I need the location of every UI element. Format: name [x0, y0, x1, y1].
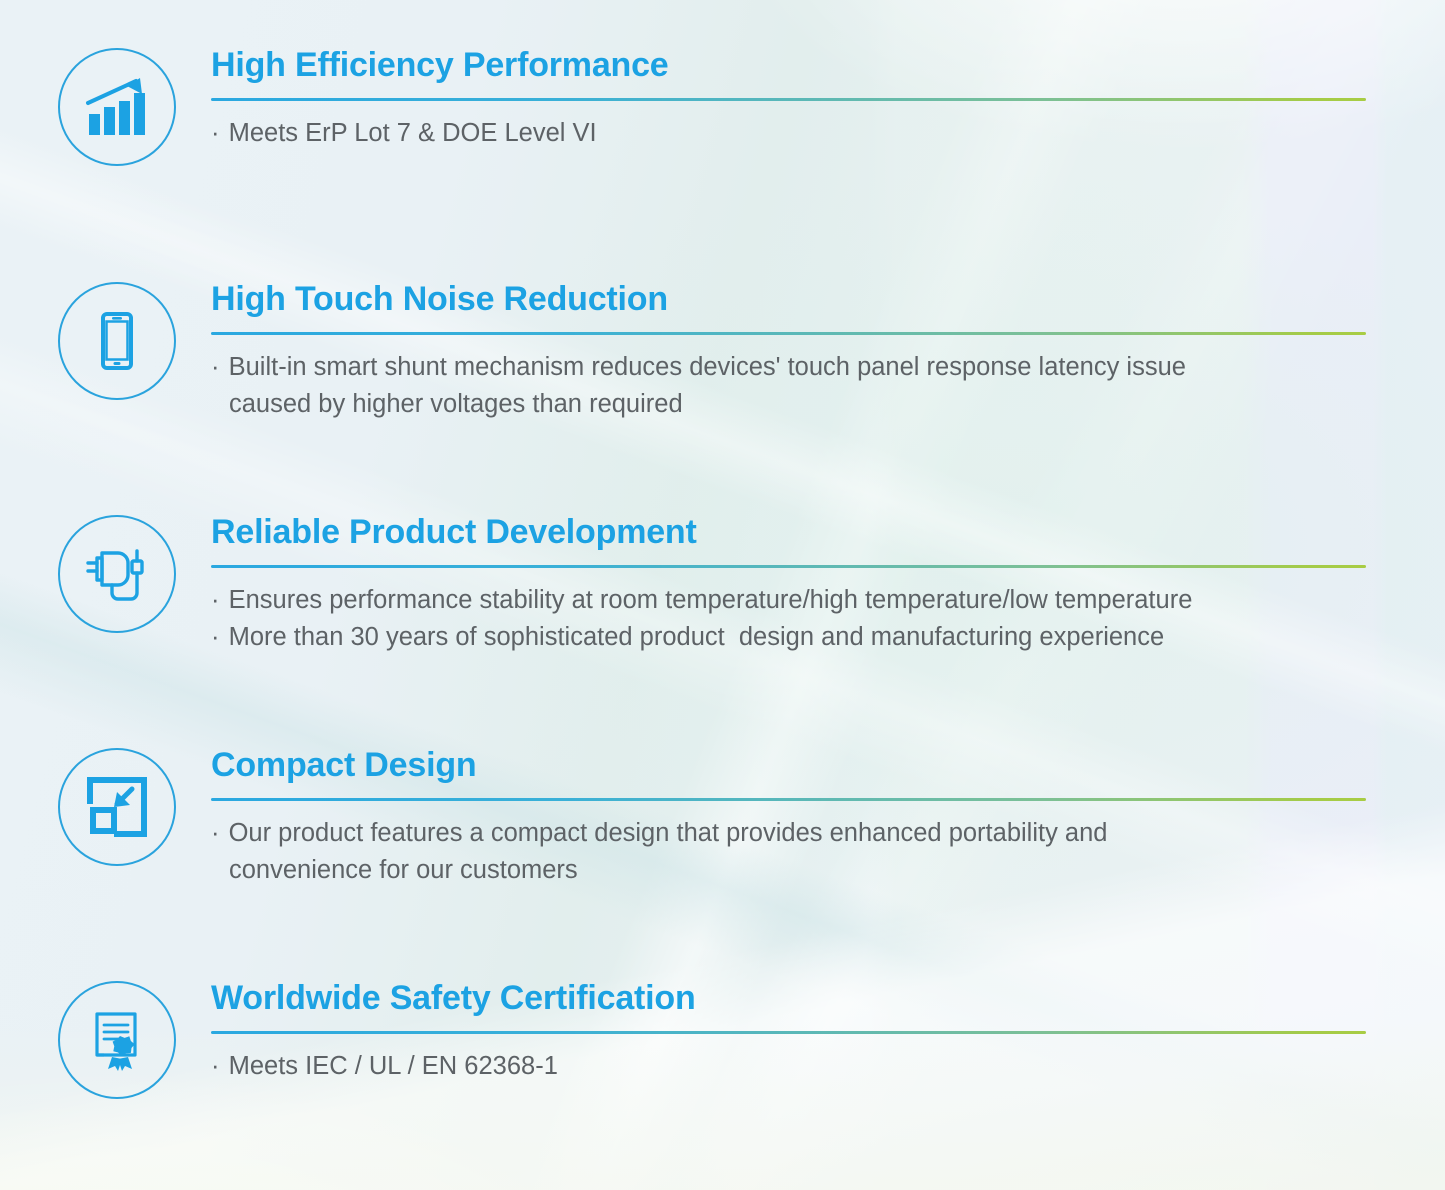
feature-lines: · Meets ErP Lot 7 & DOE Level VI	[211, 115, 1365, 152]
feature-body: High Efficiency Performance · Meets ErP …	[211, 48, 1445, 152]
feature-title: Worldwide Safety Certification	[211, 981, 1365, 1015]
bullet-text: caused by higher voltages than required	[229, 390, 683, 418]
feature-divider	[211, 332, 1366, 335]
bullet-marker: ·	[211, 586, 220, 614]
icon-circle	[58, 282, 176, 400]
feature-title: Compact Design	[211, 748, 1365, 782]
feature-bullet-line: · More than 30 years of sophisticated pr…	[211, 619, 1365, 656]
feature-body: Worldwide Safety Certification · Meets I…	[211, 981, 1445, 1085]
feature-icon-wrap	[55, 282, 179, 400]
feature-divider	[211, 565, 1366, 568]
feature-lines: · Meets IEC / UL / EN 62368-1	[211, 1048, 1365, 1085]
bullet-text: Our product features a compact design th…	[229, 819, 1108, 847]
bullet-marker: ·	[211, 1052, 220, 1080]
feature-title: Reliable Product Development	[211, 515, 1365, 549]
feature-bullet-line: · Our product features a compact design …	[211, 815, 1365, 852]
feature-icon-wrap	[55, 515, 179, 633]
feature-title: High Efficiency Performance	[211, 48, 1365, 82]
bullet-text: Built-in smart shunt mechanism reduces d…	[229, 353, 1186, 381]
feature-icon-wrap	[55, 48, 179, 166]
feature-title: High Touch Noise Reduction	[211, 282, 1365, 316]
bullet-text: Meets IEC / UL / EN 62368-1	[229, 1052, 558, 1080]
feature-body: Compact Design · Our product features a …	[211, 748, 1445, 888]
feature-row-compact-design: Compact Design · Our product features a …	[0, 748, 1445, 888]
bullet-text: convenience for our customers	[229, 856, 578, 884]
feature-row-worldwide-safety-certification: Worldwide Safety Certification · Meets I…	[0, 981, 1445, 1099]
bullet-marker: ·	[211, 623, 220, 651]
smartphone-icon	[82, 306, 152, 376]
feature-bullet-line-continuation: caused by higher voltages than required	[211, 386, 1365, 423]
feature-row-high-touch-noise-reduction: High Touch Noise Reduction · Built-in sm…	[0, 282, 1445, 422]
bar-chart-growth-icon	[80, 70, 154, 144]
feature-bullet-line-continuation: convenience for our customers	[211, 852, 1365, 889]
icon-circle	[58, 748, 176, 866]
bullet-text: Ensures performance stability at room te…	[229, 586, 1193, 614]
feature-lines: · Ensures performance stability at room …	[211, 582, 1365, 655]
feature-bullet-line: · Meets ErP Lot 7 & DOE Level VI	[211, 115, 1365, 152]
bullet-marker: ·	[211, 119, 220, 147]
icon-circle	[58, 515, 176, 633]
feature-row-reliable-product-development: Reliable Product Development · Ensures p…	[0, 515, 1445, 655]
feature-row-high-efficiency-performance: High Efficiency Performance · Meets ErP …	[0, 48, 1445, 166]
feature-divider	[211, 98, 1366, 101]
bullet-text: More than 30 years of sophisticated prod…	[229, 623, 1165, 651]
feature-bullet-line: · Built-in smart shunt mechanism reduces…	[211, 349, 1365, 386]
feature-body: Reliable Product Development · Ensures p…	[211, 515, 1445, 655]
feature-divider	[211, 798, 1366, 801]
bullet-marker: ·	[211, 353, 220, 381]
feature-bullet-line: · Ensures performance stability at room …	[211, 582, 1365, 619]
icon-circle	[58, 981, 176, 1099]
feature-bullet-line: · Meets IEC / UL / EN 62368-1	[211, 1048, 1365, 1085]
feature-lines: · Our product features a compact design …	[211, 815, 1365, 888]
feature-divider	[211, 1031, 1366, 1034]
power-adapter-icon	[80, 537, 154, 611]
icon-circle	[58, 48, 176, 166]
feature-body: High Touch Noise Reduction · Built-in sm…	[211, 282, 1445, 422]
feature-icon-wrap	[55, 981, 179, 1099]
feature-lines: · Built-in smart shunt mechanism reduces…	[211, 349, 1365, 422]
bullet-marker: ·	[211, 819, 220, 847]
feature-icon-wrap	[55, 748, 179, 866]
certificate-award-icon	[82, 1005, 152, 1075]
bullet-text: Meets ErP Lot 7 & DOE Level VI	[229, 119, 597, 147]
compact-resize-icon	[84, 774, 150, 840]
feature-highlights-page: High Efficiency Performance · Meets ErP …	[0, 0, 1445, 1190]
